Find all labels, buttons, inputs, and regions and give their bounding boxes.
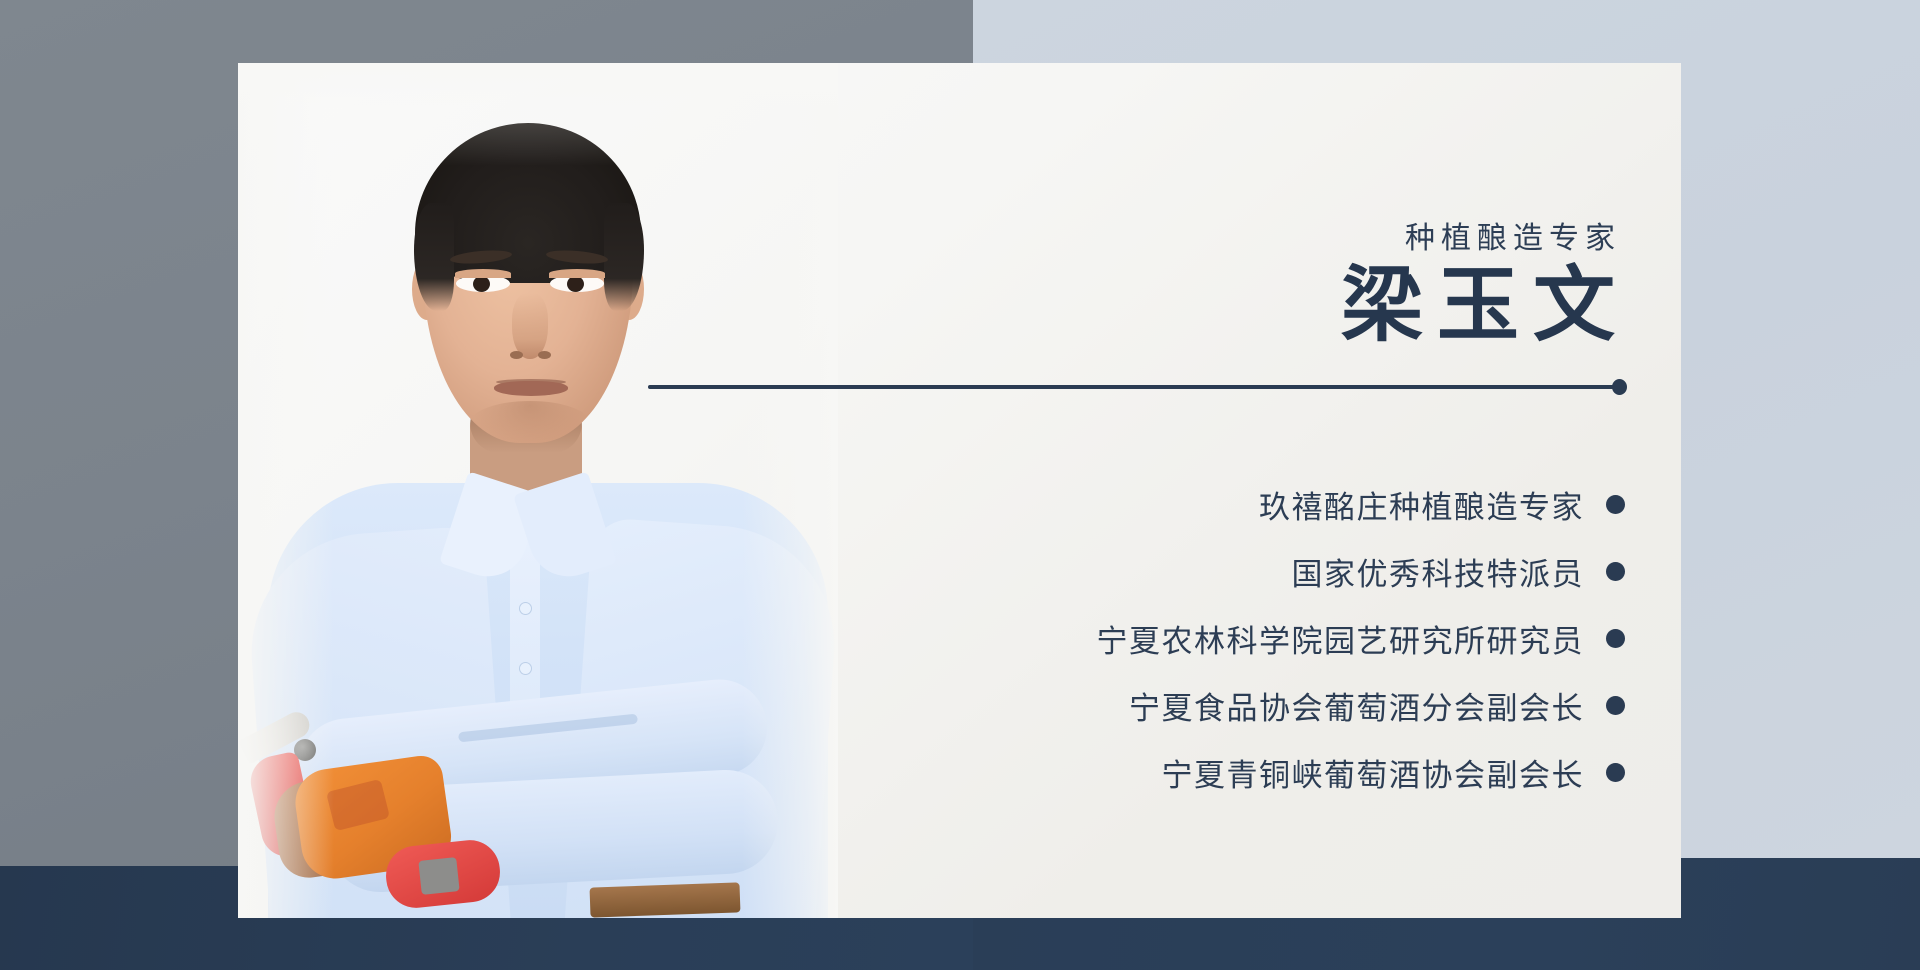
expert-name: 梁玉文 bbox=[729, 259, 1629, 353]
credential-text: 玖禧酩庄种植酿造专家 bbox=[1259, 482, 1584, 527]
credential-list: 玖禧酩庄种植酿造专家 国家优秀科技特派员 宁夏农林科学院园艺研究所研究员 宁夏食… bbox=[625, 471, 1625, 806]
credential-item: 国家优秀科技特派员 bbox=[1292, 538, 1626, 605]
bullet-dot-icon bbox=[1606, 696, 1625, 715]
bullet-dot-icon bbox=[1606, 495, 1625, 514]
bullet-dot-icon bbox=[1606, 629, 1625, 648]
divider-end-dot bbox=[1612, 379, 1627, 395]
profile-banner: 种植酿造专家 梁玉文 玖禧酩庄种植酿造专家 国家优秀科技特派员 宁夏农林科学院园… bbox=[0, 0, 1920, 970]
credential-item: 宁夏农林科学院园艺研究所研究员 bbox=[1097, 605, 1626, 672]
credential-text: 宁夏食品协会葡萄酒分会副会长 bbox=[1129, 683, 1584, 728]
bullet-dot-icon bbox=[1606, 562, 1625, 581]
credential-item: 宁夏食品协会葡萄酒分会副会长 bbox=[1129, 672, 1625, 739]
credential-text: 宁夏农林科学院园艺研究所研究员 bbox=[1097, 616, 1585, 661]
profile-card: 种植酿造专家 梁玉文 玖禧酩庄种植酿造专家 国家优秀科技特派员 宁夏农林科学院园… bbox=[238, 63, 1681, 918]
bullet-dot-icon bbox=[1606, 763, 1625, 782]
role-label: 种植酿造专家 bbox=[721, 213, 1621, 257]
credential-text: 宁夏青铜峡葡萄酒协会副会长 bbox=[1162, 750, 1585, 795]
divider-line bbox=[648, 385, 1620, 389]
credential-item: 玖禧酩庄种植酿造专家 bbox=[1259, 471, 1625, 538]
credential-text: 国家优秀科技特派员 bbox=[1292, 549, 1585, 594]
credential-item: 宁夏青铜峡葡萄酒协会副会长 bbox=[1162, 739, 1626, 806]
